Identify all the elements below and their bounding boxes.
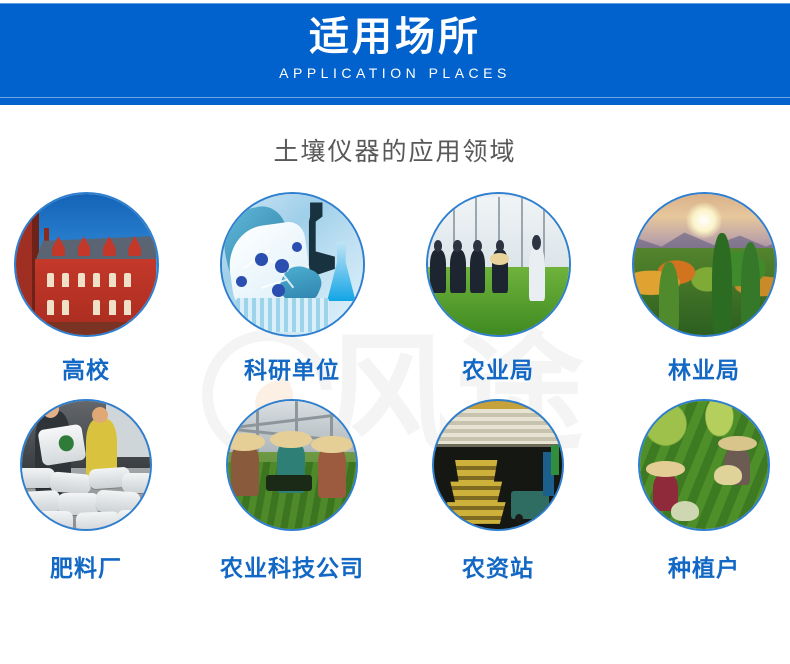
greenhouse-field-inspection-photo bbox=[426, 192, 571, 337]
place-card-agriculture-bureau[interactable]: 农业局 bbox=[413, 192, 583, 385]
agricultural-supply-store-photo bbox=[432, 399, 564, 531]
place-label: 农资站 bbox=[462, 549, 534, 583]
place-card-research-institutes[interactable]: 科研单位 bbox=[207, 192, 377, 385]
place-card-growers[interactable]: 种植户 bbox=[619, 399, 789, 583]
university-building-photo bbox=[14, 192, 159, 337]
application-places-page: 风途 适用场所 APPLICATION PLACES 土壤仪器的应用领域 bbox=[0, 0, 790, 664]
place-label: 林业局 bbox=[668, 351, 740, 385]
greenhouse-seedling-workers-photo bbox=[226, 399, 358, 531]
header-banner: 适用场所 APPLICATION PLACES bbox=[0, 0, 790, 105]
farmers-harvesting-field-photo bbox=[638, 399, 770, 531]
banner-title: 适用场所 bbox=[309, 15, 481, 60]
places-row-1: 高校 bbox=[0, 192, 790, 385]
place-label: 农业局 bbox=[462, 351, 534, 385]
research-laboratory-photo bbox=[220, 192, 365, 337]
place-label: 农业科技公司 bbox=[220, 549, 364, 583]
place-card-fertilizer-plant[interactable]: 肥料厂 bbox=[1, 399, 171, 583]
places-row-2: 肥料厂 bbox=[0, 399, 790, 583]
place-card-universities[interactable]: 高校 bbox=[1, 192, 171, 385]
fertilizer-bags-loading-photo bbox=[20, 399, 152, 531]
place-label: 科研单位 bbox=[244, 351, 340, 385]
places-grid: 高校 bbox=[0, 192, 790, 583]
place-card-agritech-company[interactable]: 农业科技公司 bbox=[207, 399, 377, 583]
place-label: 肥料厂 bbox=[50, 549, 122, 583]
place-label: 种植户 bbox=[668, 549, 740, 583]
place-card-forestry-bureau[interactable]: 林业局 bbox=[619, 192, 789, 385]
place-card-agri-supply-station[interactable]: 农资站 bbox=[413, 399, 583, 583]
section-heading: 土壤仪器的应用领域 bbox=[0, 132, 790, 168]
place-label: 高校 bbox=[62, 351, 110, 385]
autumn-forest-sunset-photo bbox=[632, 192, 777, 337]
banner-subtitle: APPLICATION PLACES bbox=[279, 65, 511, 81]
